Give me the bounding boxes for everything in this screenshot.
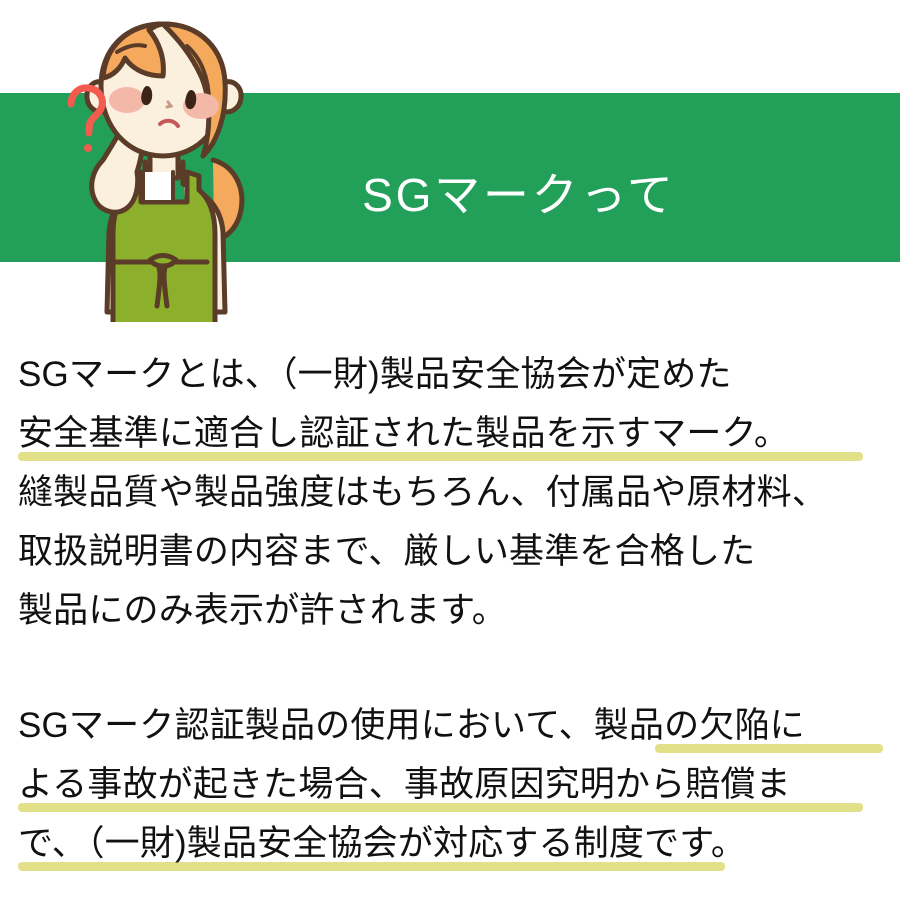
text-line: 製品にのみ表示が許されます。 bbox=[18, 581, 888, 640]
text-line-highlighted: SGマーク認証製品の使用において、製品の欠陥に bbox=[18, 696, 888, 755]
text-line-content: SGマーク認証製品の使用において、製品の欠陥に bbox=[18, 706, 805, 745]
paragraph-compensation: SGマーク認証製品の使用において、製品の欠陥に よる事故が起きた場合、事故原因究… bbox=[18, 696, 888, 873]
shirt-shape bbox=[143, 172, 173, 202]
text-line: 取扱説明書の内容まで、厳しい基準を合格した bbox=[18, 522, 888, 581]
left-cheek-shape bbox=[109, 87, 145, 113]
banner-title-line1: SGマークって bbox=[362, 169, 675, 221]
infographic-page: SGマークって なに？？ bbox=[0, 0, 900, 900]
text-line-content: 製品にのみ表示が許されます。 bbox=[18, 591, 507, 630]
text-line-content: 取扱説明書の内容まで、厳しい基準を合格した bbox=[18, 532, 755, 571]
apron-knot-shape bbox=[150, 256, 176, 267]
text-line-content: よる事故が起きた場合、事故原因究明から賠償ま bbox=[18, 765, 791, 804]
text-line-highlighted: で、（一財)製品安全協会が対応する制度です。 bbox=[18, 814, 888, 873]
banner-title-line2: なに？？ bbox=[300, 295, 900, 362]
text-line-content: で、（一財)製品安全協会が対応する制度です。 bbox=[18, 824, 746, 863]
thinking-woman-illustration bbox=[55, 12, 305, 322]
text-line-highlighted: よる事故が起きた場合、事故原因究明から賠償ま bbox=[18, 755, 888, 814]
banner-title: SGマークって なに？？ bbox=[300, 95, 900, 495]
